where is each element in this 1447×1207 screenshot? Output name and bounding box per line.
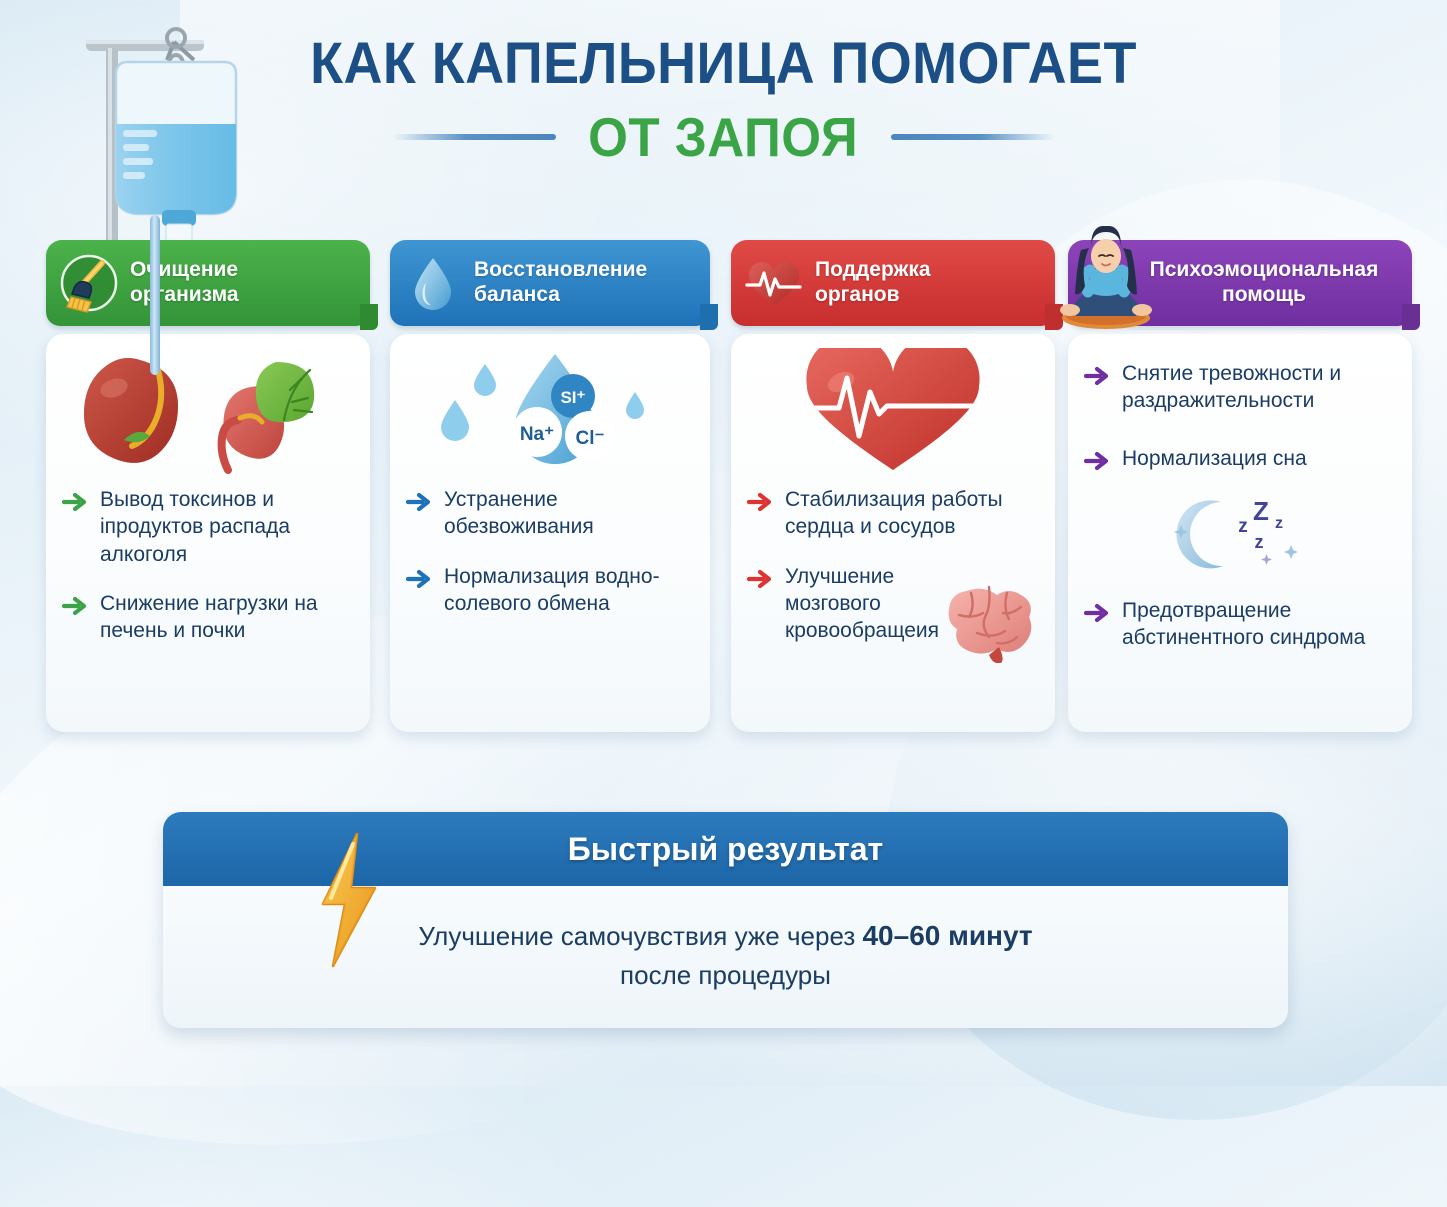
arrow-icon — [62, 489, 88, 515]
arrow-icon — [747, 489, 773, 515]
card-cleansing[interactable]: Очищениеорганизма — [46, 240, 370, 732]
bullet-item: Предотвращение абстинентного синдрома — [1084, 597, 1396, 652]
bullet-item: Устранение обезвоживания — [406, 486, 694, 541]
card-body-psycho: Снятие тревожности и раздражительности Н… — [1068, 334, 1412, 732]
card-body-balance: SI⁺ Na⁺ Cl⁻ Устранение обезвоживания — [390, 334, 710, 732]
electrolyte-label-cl: Cl⁻ — [575, 428, 604, 449]
electrolyte-label-si: SI⁺ — [560, 388, 585, 407]
bullet-item: Улучшение мозгового кровообращеия — [747, 563, 1039, 645]
svg-text:z: z — [1238, 516, 1248, 537]
card-title-organs: Поддержкаорганов — [815, 258, 931, 308]
arrow-icon — [1084, 363, 1110, 389]
card-header-psycho: Психоэмоциональнаяпомощь — [1068, 240, 1412, 326]
liver-kidney-leaf-icon — [62, 348, 354, 480]
iv-tube — [150, 215, 160, 375]
bullet-text: Снятие тревожности и раздражительности — [1122, 360, 1396, 415]
svg-text:z: z — [1255, 532, 1264, 552]
title-divider-left — [392, 134, 556, 140]
heart-ecg-icon — [747, 348, 1039, 480]
card-psycho[interactable]: Психоэмоциональнаяпомощь Снятие тревожно… — [1068, 240, 1412, 732]
meditating-person-icon — [1054, 226, 1158, 330]
water-drop-icon — [402, 252, 464, 314]
broom-cleaning-icon — [58, 252, 120, 314]
title-divider-right — [891, 134, 1055, 140]
title-main: КАК КАПЕЛЬНИЦА ПОМОГАЕТ — [51, 34, 1397, 93]
lightning-bolt-icon — [311, 830, 385, 970]
moon-sleep-icon: Z z z z — [1084, 492, 1396, 581]
bullet-text: Нормализация водно-солевого обмена — [444, 563, 694, 618]
benefit-cards: Очищениеорганизма — [0, 240, 1447, 750]
heart-pulse-icon — [743, 252, 805, 314]
banner-heading: Быстрый результат — [568, 831, 883, 868]
arrow-icon — [1084, 448, 1110, 474]
bullet-item: Вывод токсинов и іпродуктов распада алко… — [62, 486, 354, 568]
card-header-balance: Восстановлениебаланса — [390, 240, 710, 326]
bullet-item: Нормализация сна — [1084, 445, 1396, 474]
card-body-cleansing: Вывод токсинов и іпродуктов распада алко… — [46, 334, 370, 732]
banner-line1-prefix: Улучшение самочувствия уже через — [418, 921, 862, 951]
bullet-text: Нормализация сна — [1122, 445, 1307, 472]
bullet-text: Стабилизация работы сердца и сосудов — [785, 486, 1039, 541]
arrow-icon — [406, 566, 432, 592]
card-header-organs: Поддержкаорганов — [731, 240, 1055, 326]
card-balance[interactable]: Восстановлениебаланса SI⁺ Na⁺ Cl — [390, 240, 710, 732]
arrow-icon — [747, 566, 773, 592]
bullet-text: Предотвращение абстинентного синдрома — [1122, 597, 1396, 652]
brain-icon — [937, 571, 1049, 668]
arrow-icon — [1084, 600, 1110, 626]
page-title: КАК КАПЕЛЬНИЦА ПОМОГАЕТ ОТ ЗАПОЯ — [0, 34, 1447, 169]
bullet-text: Устранение обезвоживания — [444, 486, 694, 541]
arrow-icon — [406, 489, 432, 515]
card-header-cleansing: Очищениеорганизма — [46, 240, 370, 326]
electrolyte-label-na: Na⁺ — [520, 424, 554, 445]
arrow-icon — [62, 593, 88, 619]
bullet-text: Снижение нагрузки на печень и почки — [100, 590, 354, 645]
bullet-item: Стабилизация работы сердца и сосудов — [747, 486, 1039, 541]
card-title-cleansing: Очищениеорганизма — [130, 258, 239, 308]
card-title-psycho: Психоэмоциональнаяпомощь — [1128, 258, 1400, 308]
card-body-organs: Стабилизация работы сердца и сосудов Улу… — [731, 334, 1055, 732]
fast-result-banner: Быстрый результат Улучшение самочувствия… — [163, 812, 1288, 1028]
card-title-balance: Восстановлениебаланса — [474, 258, 647, 308]
bullet-item: Нормализация водно-солевого обмена — [406, 563, 694, 618]
bullet-text: Улучшение мозгового кровообращеия — [785, 563, 957, 645]
svg-text:z: z — [1275, 515, 1283, 532]
svg-text:Z: Z — [1253, 496, 1269, 526]
card-organs[interactable]: Поддержкаорганов Стабилизация — [731, 240, 1055, 732]
bullet-text: Вывод токсинов и іпродуктов распада алко… — [100, 486, 354, 568]
banner-duration-highlight: 40–60 минут — [862, 920, 1032, 951]
bullet-item: Снижение нагрузки на печень и почки — [62, 590, 354, 645]
bullet-item: Снятие тревожности и раздражительности — [1084, 360, 1396, 415]
title-subtitle: ОТ ЗАПОЯ — [589, 105, 859, 169]
electrolyte-drops-icon: SI⁺ Na⁺ Cl⁻ — [406, 348, 694, 480]
